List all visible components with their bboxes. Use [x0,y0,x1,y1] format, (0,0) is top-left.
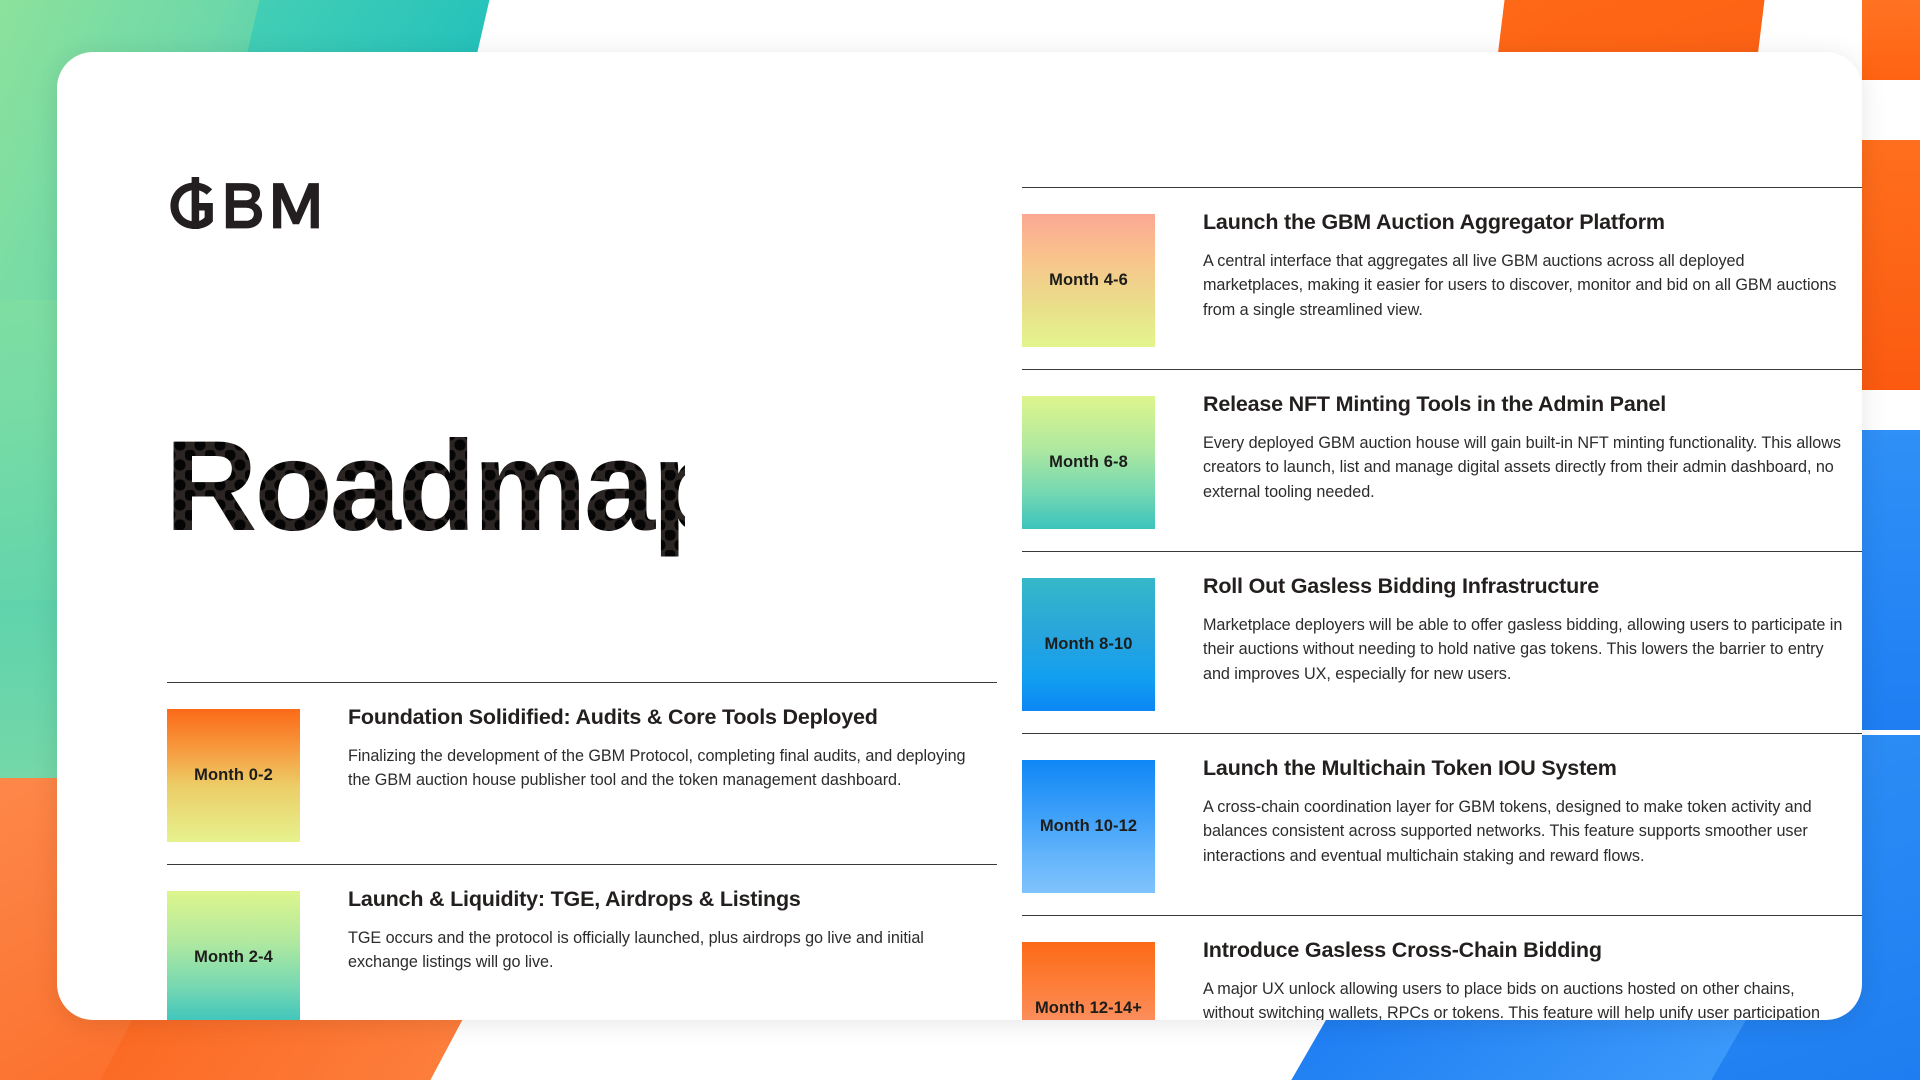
phase-content: Roll Out Gasless Bidding Infrastructure … [1203,570,1862,687]
phase-row[interactable]: Month 0-2 Foundation Solidified: Audits … [167,682,997,842]
phase-month-chip: Month 12-14+ [1022,942,1155,1020]
phase-title: Roll Out Gasless Bidding Infrastructure [1203,574,1862,600]
content-card: Roadmap Month 0-2 Foundation Solidified:… [57,52,1862,1020]
phase-description: A cross-chain coordination layer for GBM… [1203,795,1843,869]
phase-description: TGE occurs and the protocol is officiall… [348,926,988,975]
phase-month-chip: Month 2-4 [167,891,300,1020]
phase-title: Introduce Gasless Cross-Chain Bidding [1203,938,1862,964]
phase-row[interactable]: Month 2-4 Launch & Liquidity: TGE, Airdr… [167,864,997,1020]
phase-content: Launch & Liquidity: TGE, Airdrops & List… [348,883,997,975]
phase-title: Launch the GBM Auction Aggregator Platfo… [1203,210,1862,236]
phase-row[interactable]: Month 12-14+ Introduce Gasless Cross-Cha… [1022,915,1862,1020]
phases-column-left: Month 0-2 Foundation Solidified: Audits … [167,682,997,1020]
phase-row[interactable]: Month 10-12 Launch the Multichain Token … [1022,733,1862,893]
phase-row[interactable]: Month 8-10 Roll Out Gasless Bidding Infr… [1022,551,1862,711]
phase-description: A central interface that aggregates all … [1203,249,1843,323]
phase-row[interactable]: Month 6-8 Release NFT Minting Tools in t… [1022,369,1862,529]
phase-month-chip: Month 6-8 [1022,396,1155,529]
phase-title: Release NFT Minting Tools in the Admin P… [1203,392,1862,418]
phase-description: Marketplace deployers will be able to of… [1203,613,1843,687]
phase-description: Every deployed GBM auction house will ga… [1203,431,1843,505]
phase-month-chip: Month 4-6 [1022,214,1155,347]
phase-content: Launch the GBM Auction Aggregator Platfo… [1203,206,1862,323]
phase-month-chip: Month 0-2 [167,709,300,842]
roadmap-slide: Roadmap Month 0-2 Foundation Solidified:… [0,0,1920,1080]
phase-content: Foundation Solidified: Audits & Core Too… [348,701,997,793]
phase-content: Release NFT Minting Tools in the Admin P… [1203,388,1862,505]
decor-orange-corner-top-right [1862,0,1920,80]
phase-title: Launch & Liquidity: TGE, Airdrops & List… [348,887,997,913]
phase-title: Foundation Solidified: Audits & Core Too… [348,705,997,731]
decor-blue-wedge-bottom [1268,1010,1752,1080]
phase-content: Launch the Multichain Token IOU System A… [1203,752,1862,869]
phase-title: Launch the Multichain Token IOU System [1203,756,1862,782]
phase-description: A major UX unlock allowing users to plac… [1203,977,1843,1020]
gbm-logo [167,177,365,229]
phase-row[interactable]: Month 4-6 Launch the GBM Auction Aggrega… [1022,187,1862,347]
phases-column-right: Month 4-6 Launch the GBM Auction Aggrega… [1022,187,1862,1020]
page-title: Roadmap [165,430,685,560]
gbm-logo-icon [167,177,365,229]
svg-text:Roadmap: Roadmap [165,430,685,558]
phase-month-chip: Month 8-10 [1022,578,1155,711]
phase-content: Introduce Gasless Cross-Chain Bidding A … [1203,934,1862,1020]
phase-description: Finalizing the development of the GBM Pr… [348,744,988,793]
phase-month-chip: Month 10-12 [1022,760,1155,893]
